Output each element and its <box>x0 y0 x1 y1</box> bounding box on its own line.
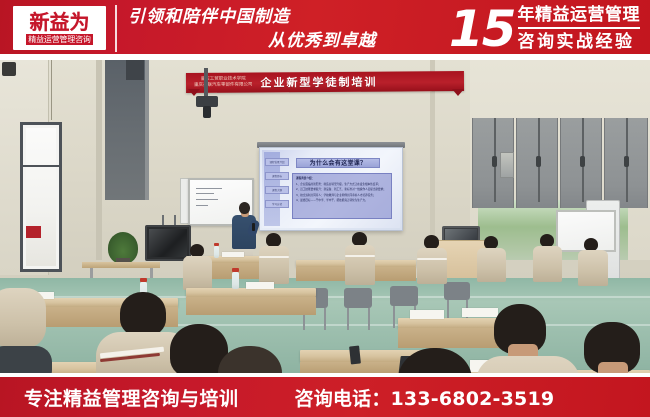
side-table <box>82 262 160 268</box>
chair-mid-1-leg-b <box>324 308 326 330</box>
student-uniform-stripe <box>345 255 375 257</box>
student-head <box>424 235 439 249</box>
hanging-wire <box>51 60 52 120</box>
banner-main-title: 企业新型学徒制培训 <box>260 74 377 91</box>
event-banner: 重庆工贸职业技术学院 重庆美联汽车零部件有限公司 企业新型学徒制培训 <box>186 71 464 93</box>
whiteboard-writing-2 <box>196 193 214 194</box>
header-bar: 新益为 精益运营管理咨询 引领和陪伴中国制造 从优秀到卓越 15 年精益运营管理… <box>0 0 650 57</box>
years-number: 15 <box>449 4 515 54</box>
ceiling-duct <box>126 60 144 80</box>
desk-row2-mid <box>186 288 316 297</box>
student-body <box>0 288 46 348</box>
student-body <box>578 250 608 286</box>
chair-mid-4[interactable] <box>444 282 470 300</box>
slide-title: 为什么会有这堂课？ <box>296 158 380 168</box>
whiteboard-writing-3 <box>196 199 218 200</box>
student-body <box>417 248 447 284</box>
experience-badge: 15 年精益运营管理 咨询实战经验 <box>449 2 640 55</box>
chair-mid-3-leg-a <box>393 306 395 328</box>
paper-stack-1 <box>222 252 244 257</box>
slide-tab-2: 课程大纲 <box>265 186 289 194</box>
instructor-head <box>239 202 250 214</box>
wall-lamp <box>2 62 16 76</box>
door-glass <box>26 128 56 266</box>
student-body <box>259 246 289 284</box>
water-bottle-1 <box>214 246 219 258</box>
student-chair-back <box>0 346 52 373</box>
projector-lens <box>203 106 211 118</box>
student-uniform-stripe <box>259 256 289 258</box>
paper-row2-4 <box>462 308 498 317</box>
tv-screen <box>149 229 187 257</box>
student-body <box>345 245 375 285</box>
banner-small-line-2: 重庆美联汽车零部件有限公司 <box>194 83 253 89</box>
slide-body: 课程背景介绍： 1、企业面临的新形势：制造业转型升级，生产方式正在发生根本性变革… <box>292 173 392 219</box>
slide-body-line-0: 课程背景介绍： <box>296 176 388 181</box>
blind-knob-2[interactable] <box>536 156 541 167</box>
slide-body-line-4: 4、最终目标——干中学、学中干，把技能真正转化为生产力。 <box>296 198 388 203</box>
whiteboard-writing-4 <box>196 205 208 206</box>
student-head <box>352 232 367 246</box>
footer-phone-text[interactable]: 咨询电话：133-6802-3519 <box>295 384 555 411</box>
desk-row2-mid-front <box>186 297 316 315</box>
projector-mount <box>204 68 208 98</box>
slogan-line-2: 从优秀到卓越 <box>126 29 386 53</box>
logo-brand-text: 新益为 <box>30 12 90 33</box>
door-frame-rail <box>20 165 62 167</box>
promotional-banner-page: 新益为 精益运营管理咨询 引领和陪伴中国制造 从优秀到卓越 15 年精益运营管理… <box>0 0 650 417</box>
student-neck <box>598 362 628 373</box>
chair-mid-2-leg-a <box>347 308 349 330</box>
student-uniform-stripe <box>417 258 447 260</box>
blind-knob-4[interactable] <box>624 156 629 167</box>
slide-tab-3: 学习方式 <box>265 200 289 208</box>
chair-mid-3[interactable] <box>390 286 418 306</box>
banner-tail-left <box>188 89 200 96</box>
wall-recess-dark <box>105 60 147 200</box>
classroom-photo: 重庆工贸职业技术学院 重庆美联汽车零部件有限公司 企业新型学徒制培训 课程背景介… <box>0 60 650 373</box>
header-divider <box>115 5 117 52</box>
wall-recess-edge <box>145 60 149 200</box>
paper-row2-2 <box>246 282 274 289</box>
banner-organizations: 重庆工贸职业技术学院 重庆美联汽车零部件有限公司 <box>186 77 253 89</box>
microphone <box>252 223 255 231</box>
door-red-sign <box>26 226 41 238</box>
student-body <box>183 256 212 290</box>
chair-mid-2-leg-b <box>368 308 370 330</box>
years-line-1: 年精益运营管理 <box>518 4 641 29</box>
water-bottle-1-cap <box>214 243 219 246</box>
slide-tab-1: 课程目标 <box>265 172 289 180</box>
company-logo[interactable]: 新益为 精益运营管理咨询 <box>13 6 106 50</box>
wall-column-left <box>96 60 102 260</box>
remote-control[interactable] <box>349 346 361 365</box>
water-bottle-2-cap <box>140 278 147 282</box>
blind-knob-3[interactable] <box>580 156 585 167</box>
student-head <box>266 233 281 247</box>
water-bottle-3 <box>232 272 239 289</box>
slide-body-line-2: 2、员工技能要求提升：新设备、新工艺、新标准对一线操作人员提出新要求； <box>296 187 388 192</box>
paper-row2-3 <box>410 310 444 319</box>
years-text-block: 年精益运营管理 咨询实战经验 <box>518 4 641 53</box>
student-body <box>477 248 506 282</box>
logo-tagline-text: 精益运营管理咨询 <box>26 34 92 45</box>
header-slogan: 引领和陪伴中国制造 从优秀到卓越 <box>126 5 386 53</box>
footer-left-text: 专注精益管理咨询与培训 <box>24 384 239 411</box>
footer-bar: 专注精益管理咨询与培训 咨询电话：133-6802-3519 <box>0 377 650 417</box>
slogan-line-1: 引领和陪伴中国制造 <box>126 5 386 29</box>
student-body <box>533 246 562 282</box>
water-bottle-3-cap <box>232 268 239 272</box>
chair-mid-2[interactable] <box>344 288 372 308</box>
whiteboard-writing-1 <box>196 188 222 189</box>
wall-control-box[interactable] <box>500 152 514 178</box>
banner-tail-right <box>452 89 464 96</box>
student-head <box>120 292 166 336</box>
student-body <box>476 356 580 373</box>
years-line-2: 咨询实战经验 <box>518 29 641 53</box>
blind-knob-1[interactable] <box>492 156 497 167</box>
slide-tab-0: 课程背景介绍 <box>265 158 289 166</box>
